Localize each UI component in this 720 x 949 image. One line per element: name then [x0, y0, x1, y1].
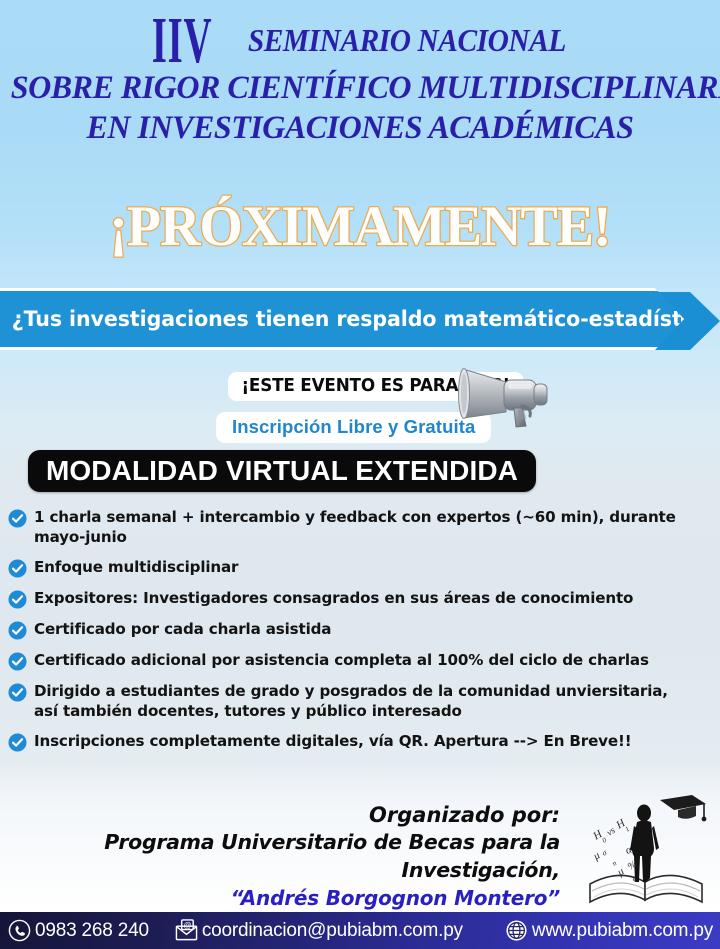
list-item-label: Inscripciones completamente digitales, v… [34, 732, 631, 752]
svg-text:@: @ [183, 921, 191, 930]
list-item: 1 charla semanal + intercambio y feedbac… [8, 508, 720, 547]
ribbon-foreground-shape: ¿Tus investigaciones tienen respaldo mat… [0, 288, 684, 350]
contact-footer: 0983 268 240 @ coordinacion@pubiabm.com.… [0, 912, 720, 949]
poster-root: IIV SEMINARIO NACIONAL SOBRE RIGOR CIENT… [0, 0, 720, 949]
graduate-on-book-icon: H 0 vs H 1 μ σ n α μ % e [582, 792, 714, 914]
modality-banner: MODALIDAD VIRTUAL EXTENDIDA [28, 450, 536, 492]
list-item: Dirigido a estudiantes de grado y posgra… [8, 682, 720, 721]
list-item-label: 1 charla semanal + intercambio y feedbac… [34, 508, 717, 547]
list-item-label: Enfoque multidisciplinar [34, 558, 238, 578]
list-item-label: Expositores: Investigadores consagrados … [34, 589, 633, 609]
list-item-label: Certificado por cada charla asistida [34, 620, 331, 640]
envelope-at-icon: @ [175, 919, 198, 942]
check-circle-icon [8, 733, 27, 752]
check-circle-icon [8, 559, 27, 578]
check-circle-icon [8, 683, 27, 702]
check-circle-icon [8, 590, 27, 609]
footer-website-text: www.pubiabm.com.py [532, 920, 713, 942]
footer-phone-text: 0983 268 240 [35, 920, 149, 942]
question-ribbon: ¿Tus investigaciones tienen respaldo mat… [0, 288, 720, 354]
check-circle-icon [8, 509, 27, 528]
check-circle-icon [8, 621, 27, 640]
svg-text:vs: vs [605, 826, 617, 839]
svg-text:1: 1 [624, 825, 631, 834]
list-item: Certificado por cada charla asistida [8, 620, 720, 640]
seminar-subtitle-line-2: EN INVESTIGACIONES ACADÉMICAS [11, 108, 709, 148]
free-registration-badge: Inscripción Libre y Gratuita [216, 412, 491, 443]
footer-phone[interactable]: 0983 268 240 [8, 919, 149, 942]
footer-email[interactable]: @ coordinacion@pubiabm.com.py [175, 919, 463, 942]
svg-text:0: 0 [601, 836, 609, 845]
seminar-title: SEMINARIO NACIONAL [248, 23, 566, 57]
features-list: 1 charla semanal + intercambio y feedbac… [8, 508, 720, 763]
modality-label: MODALIDAD VIRTUAL EXTENDIDA [46, 455, 518, 487]
footer-website[interactable]: www.pubiabm.com.py [505, 919, 713, 942]
megaphone-icon [458, 356, 564, 430]
list-item-label: Certificado adicional por asistencia com… [34, 651, 649, 671]
phone-circle-icon [8, 919, 31, 942]
list-item: Expositores: Investigadores consagrados … [8, 589, 720, 609]
edition-numeral: IIV [152, 10, 213, 71]
list-item-label: Dirigido a estudiantes de grado y posgra… [34, 682, 671, 721]
poster-title-block: IIV SEMINARIO NACIONAL SOBRE RIGOR CIENT… [0, 14, 720, 148]
organizer-intro: Organizado por: [0, 802, 560, 828]
title-first-line: IIV SEMINARIO NACIONAL [0, 14, 720, 66]
globe-icon [505, 919, 528, 942]
svg-text:σ: σ [600, 847, 609, 857]
check-circle-icon [8, 652, 27, 671]
footer-email-text: coordinacion@pubiabm.com.py [202, 920, 463, 942]
seminar-subtitle-line-1: SOBRE RIGOR CIENTÍFICO MULTIDISCIPLINARI… [11, 68, 709, 108]
list-item: Inscripciones completamente digitales, v… [8, 732, 720, 752]
organizer-program-name: Programa Universitario de Becas para la … [0, 828, 560, 884]
list-item: Enfoque multidisciplinar [8, 558, 720, 578]
coming-soon-text: ¡PRÓXIMAMENTE! [7, 196, 713, 258]
organizer-person-name: “Andrés Borgognon Montero” [0, 884, 560, 912]
list-item: Certificado adicional por asistencia com… [8, 651, 720, 671]
ribbon-question-text: ¿Tus investigaciones tienen respaldo mat… [0, 307, 720, 331]
